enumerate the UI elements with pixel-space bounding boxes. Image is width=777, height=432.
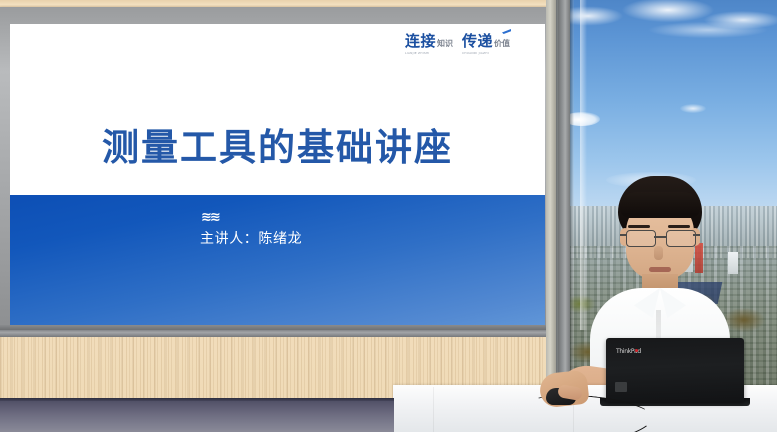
glasses-temple-left: [620, 234, 627, 236]
projection-screen-frame: 连接 知识 LIANJIE ZHISHI 传递 价值 CHUANDI JIAZH…: [0, 7, 556, 330]
window-mullion-shadow: [570, 0, 574, 432]
slide-blue-banner: ≋≋ 主讲人：陈绪龙: [10, 195, 545, 327]
logo-right-subtitle: CHUANDI JIAZHI: [462, 52, 510, 55]
lecture-recording-frame: 连接 知识 LIANJIE ZHISHI 传递 价值 CHUANDI JIAZH…: [0, 0, 777, 432]
slide-title: 测量工具的基础讲座: [10, 117, 545, 171]
glasses-lens-right: [666, 230, 696, 247]
logo-phrase-left: 连接 知识 LIANJIE ZHISHI: [405, 34, 453, 49]
cloud-small-right: [680, 104, 706, 113]
logo-left-big-text: 连接: [405, 34, 436, 49]
screen-bottom-trim: [0, 330, 558, 337]
laptop[interactable]: ThinkPad: [606, 338, 744, 402]
logo-phrase-right: 传递 价值 CHUANDI JIAZHI: [462, 34, 510, 49]
presenter-eyebrow-left: [628, 225, 650, 228]
logo-left-small-text: 知识: [437, 40, 453, 49]
glasses-icon: [623, 230, 697, 246]
window-mullion: [558, 0, 570, 432]
glasses-temple-right: [693, 234, 700, 236]
glasses-lens-left: [626, 230, 656, 247]
cloud-band: [558, 0, 777, 42]
logo-right-big-text: 传递: [462, 34, 493, 49]
laptop-brand-logo: ThinkPad: [616, 348, 638, 355]
presenter-name-label: 主讲人：陈绪龙: [200, 228, 302, 248]
tablecloth-fold-left: [433, 387, 434, 432]
window-glass-reflection: [580, 0, 587, 330]
logo-right-small-text: 价值: [494, 40, 510, 49]
brand-logo: 连接 知识 LIANJIE ZHISHI 传递 价值 CHUANDI JIAZH…: [405, 34, 510, 49]
presenter-mouth: [649, 267, 671, 272]
logo-left-subtitle: LIANJIE ZHISHI: [405, 52, 453, 55]
presenter-eyebrow-right: [668, 225, 690, 228]
presenter-fringe: [620, 192, 700, 218]
presenter-nose: [654, 246, 663, 260]
wave-decoration-icon: ≋≋: [201, 212, 229, 223]
laptop-sticker: [615, 382, 627, 392]
floor-edge-line: [0, 398, 394, 401]
presentation-slide[interactable]: 连接 知识 LIANJIE ZHISHI 传递 价值 CHUANDI JIAZH…: [10, 24, 545, 327]
floor-band: [0, 398, 394, 432]
glasses-bridge: [654, 236, 666, 238]
